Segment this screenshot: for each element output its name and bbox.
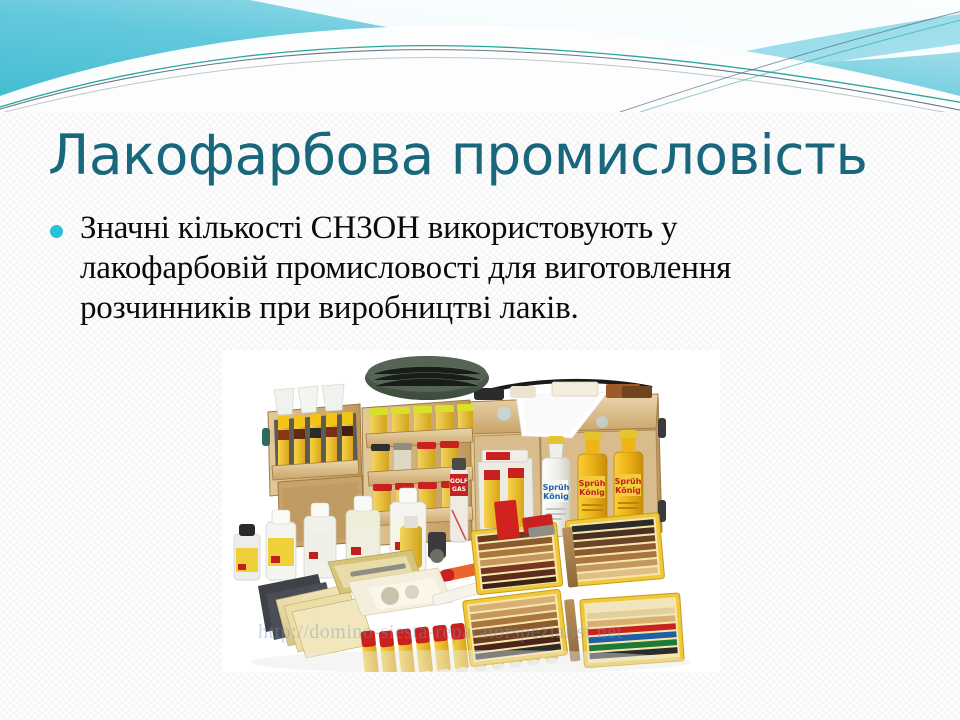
body-line-1: Значні кількості CH3OH використовують у [80,208,910,248]
slide-body: Значні кількості CH3OH використовують у … [50,208,910,328]
bullet-list-item: Значні кількості CH3OH використовують у … [50,208,910,328]
svg-text:König: König [543,492,569,501]
steel-wool-pad [365,356,489,400]
bullet-dot-icon [50,225,63,238]
svg-text:König: König [579,488,605,497]
svg-text:GAS: GAS [452,486,466,493]
body-line-2: лакофарбовій промисловості для виготовле… [80,248,910,288]
gas-can: GOLF GAS [450,458,468,542]
svg-text:GOLF: GOLF [450,478,468,485]
presentation-slide: Лакофарбова промисловість Значні кількос… [0,0,960,720]
body-line-3: розчинників при виробництві лаків. [80,288,910,328]
decorative-wave-banner [0,0,960,112]
svg-text:König: König [615,486,641,495]
content-photo: Sprüh König Sprüh König [222,350,720,672]
svg-text:Sprüh: Sprüh [615,477,642,486]
svg-text:Sprüh: Sprüh [543,483,570,492]
bullet-text: Значні кількості CH3OH використовують у … [80,208,910,328]
paint-supplies-kit-illustration: Sprüh König Sprüh König [222,350,720,672]
banner-graphic [0,0,960,112]
slide-title: Лакофарбова промисловість [48,122,928,188]
svg-text:Sprüh: Sprüh [579,479,606,488]
